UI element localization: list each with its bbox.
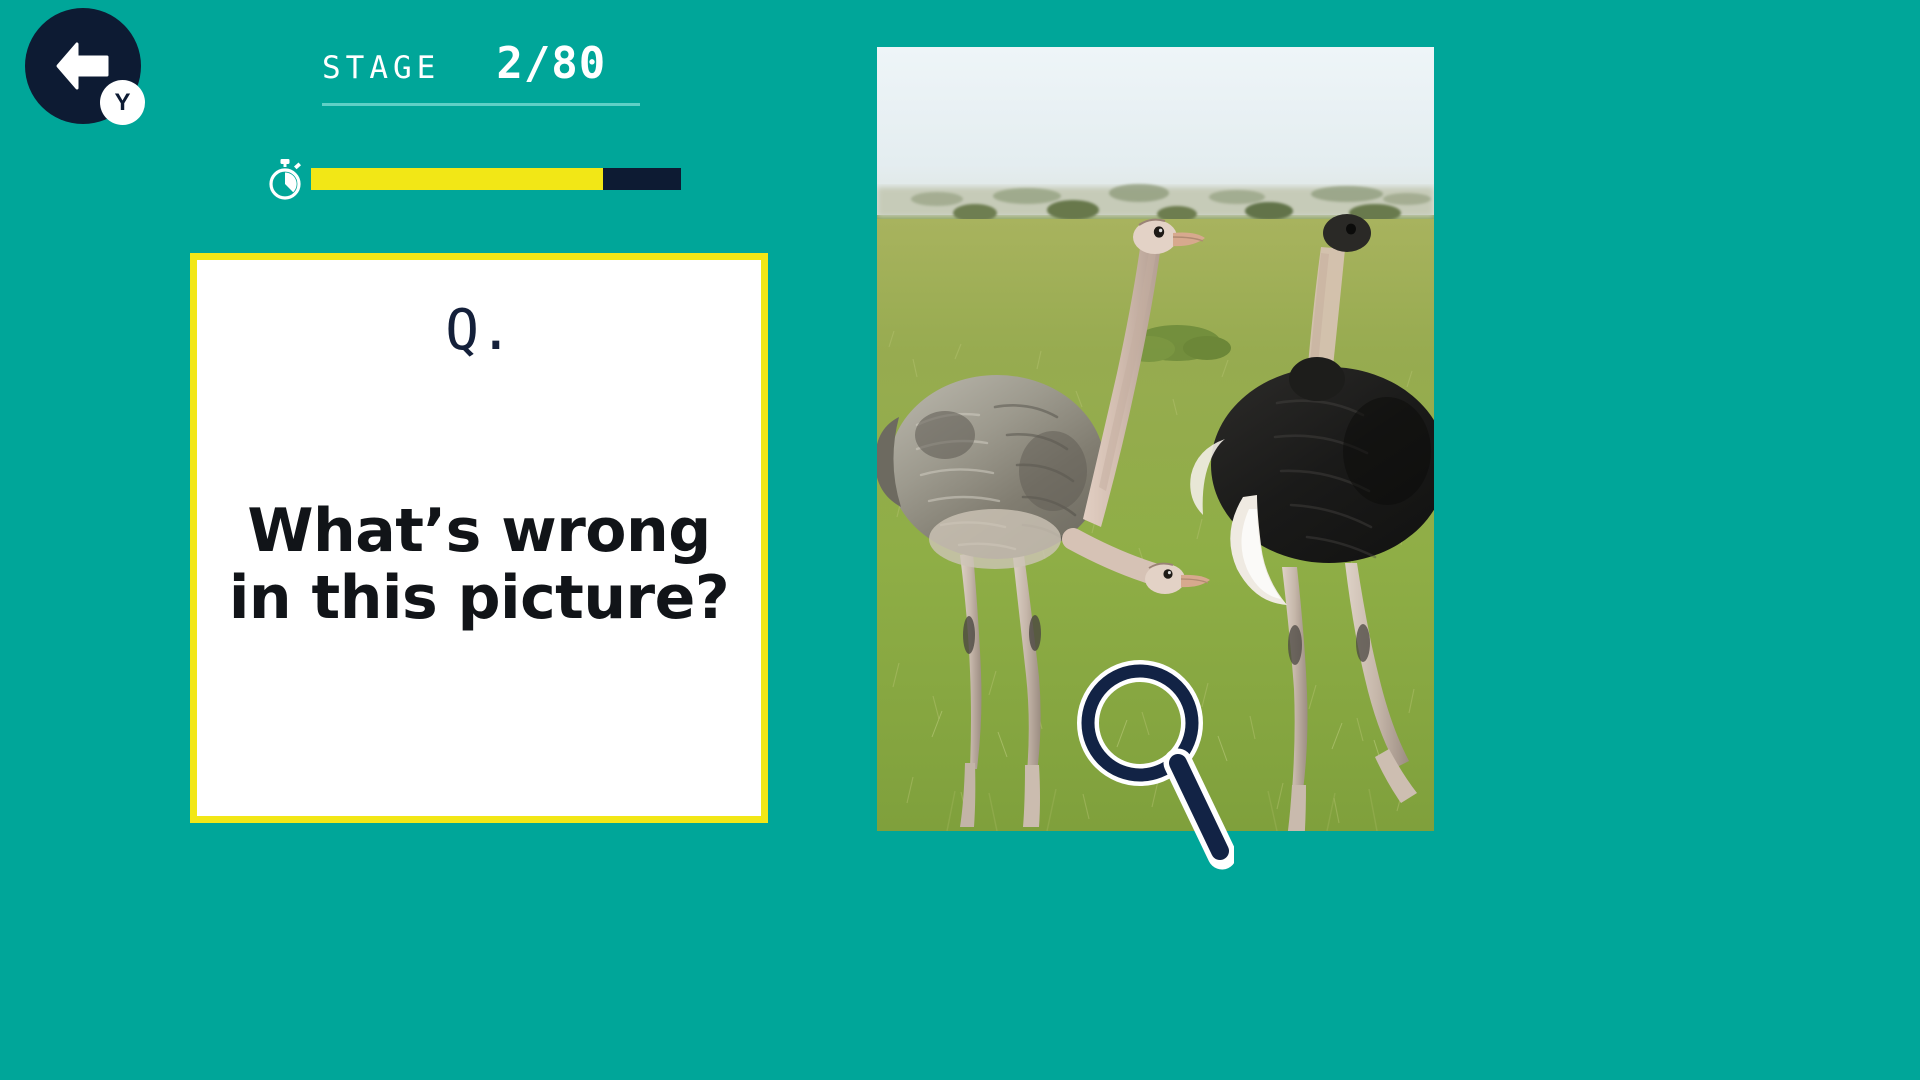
puzzle-photo[interactable] — [877, 47, 1434, 831]
stage-value: 2/80 — [496, 38, 606, 89]
stage-underline — [322, 103, 640, 106]
left-arrow-icon — [55, 40, 111, 92]
timer-fill — [311, 168, 603, 190]
button-hint-badge-y[interactable]: Y — [100, 80, 145, 125]
question-card: Q. What’s wrong in this picture? — [190, 253, 768, 823]
question-marker: Q. — [197, 298, 761, 363]
game-screen: Y STAGE 2/80 Q. What’s wrong in this pic… — [0, 0, 1920, 1080]
stage-label: STAGE — [322, 50, 440, 86]
savanna-ostrich-photo — [877, 47, 1434, 831]
stage-header: STAGE 2/80 — [322, 38, 640, 106]
stage-row: STAGE 2/80 — [322, 38, 640, 89]
timer-track — [311, 168, 681, 190]
timer-bar — [265, 158, 681, 200]
question-text: What’s wrong in this picture? — [197, 498, 761, 632]
stopwatch-icon — [265, 158, 305, 200]
